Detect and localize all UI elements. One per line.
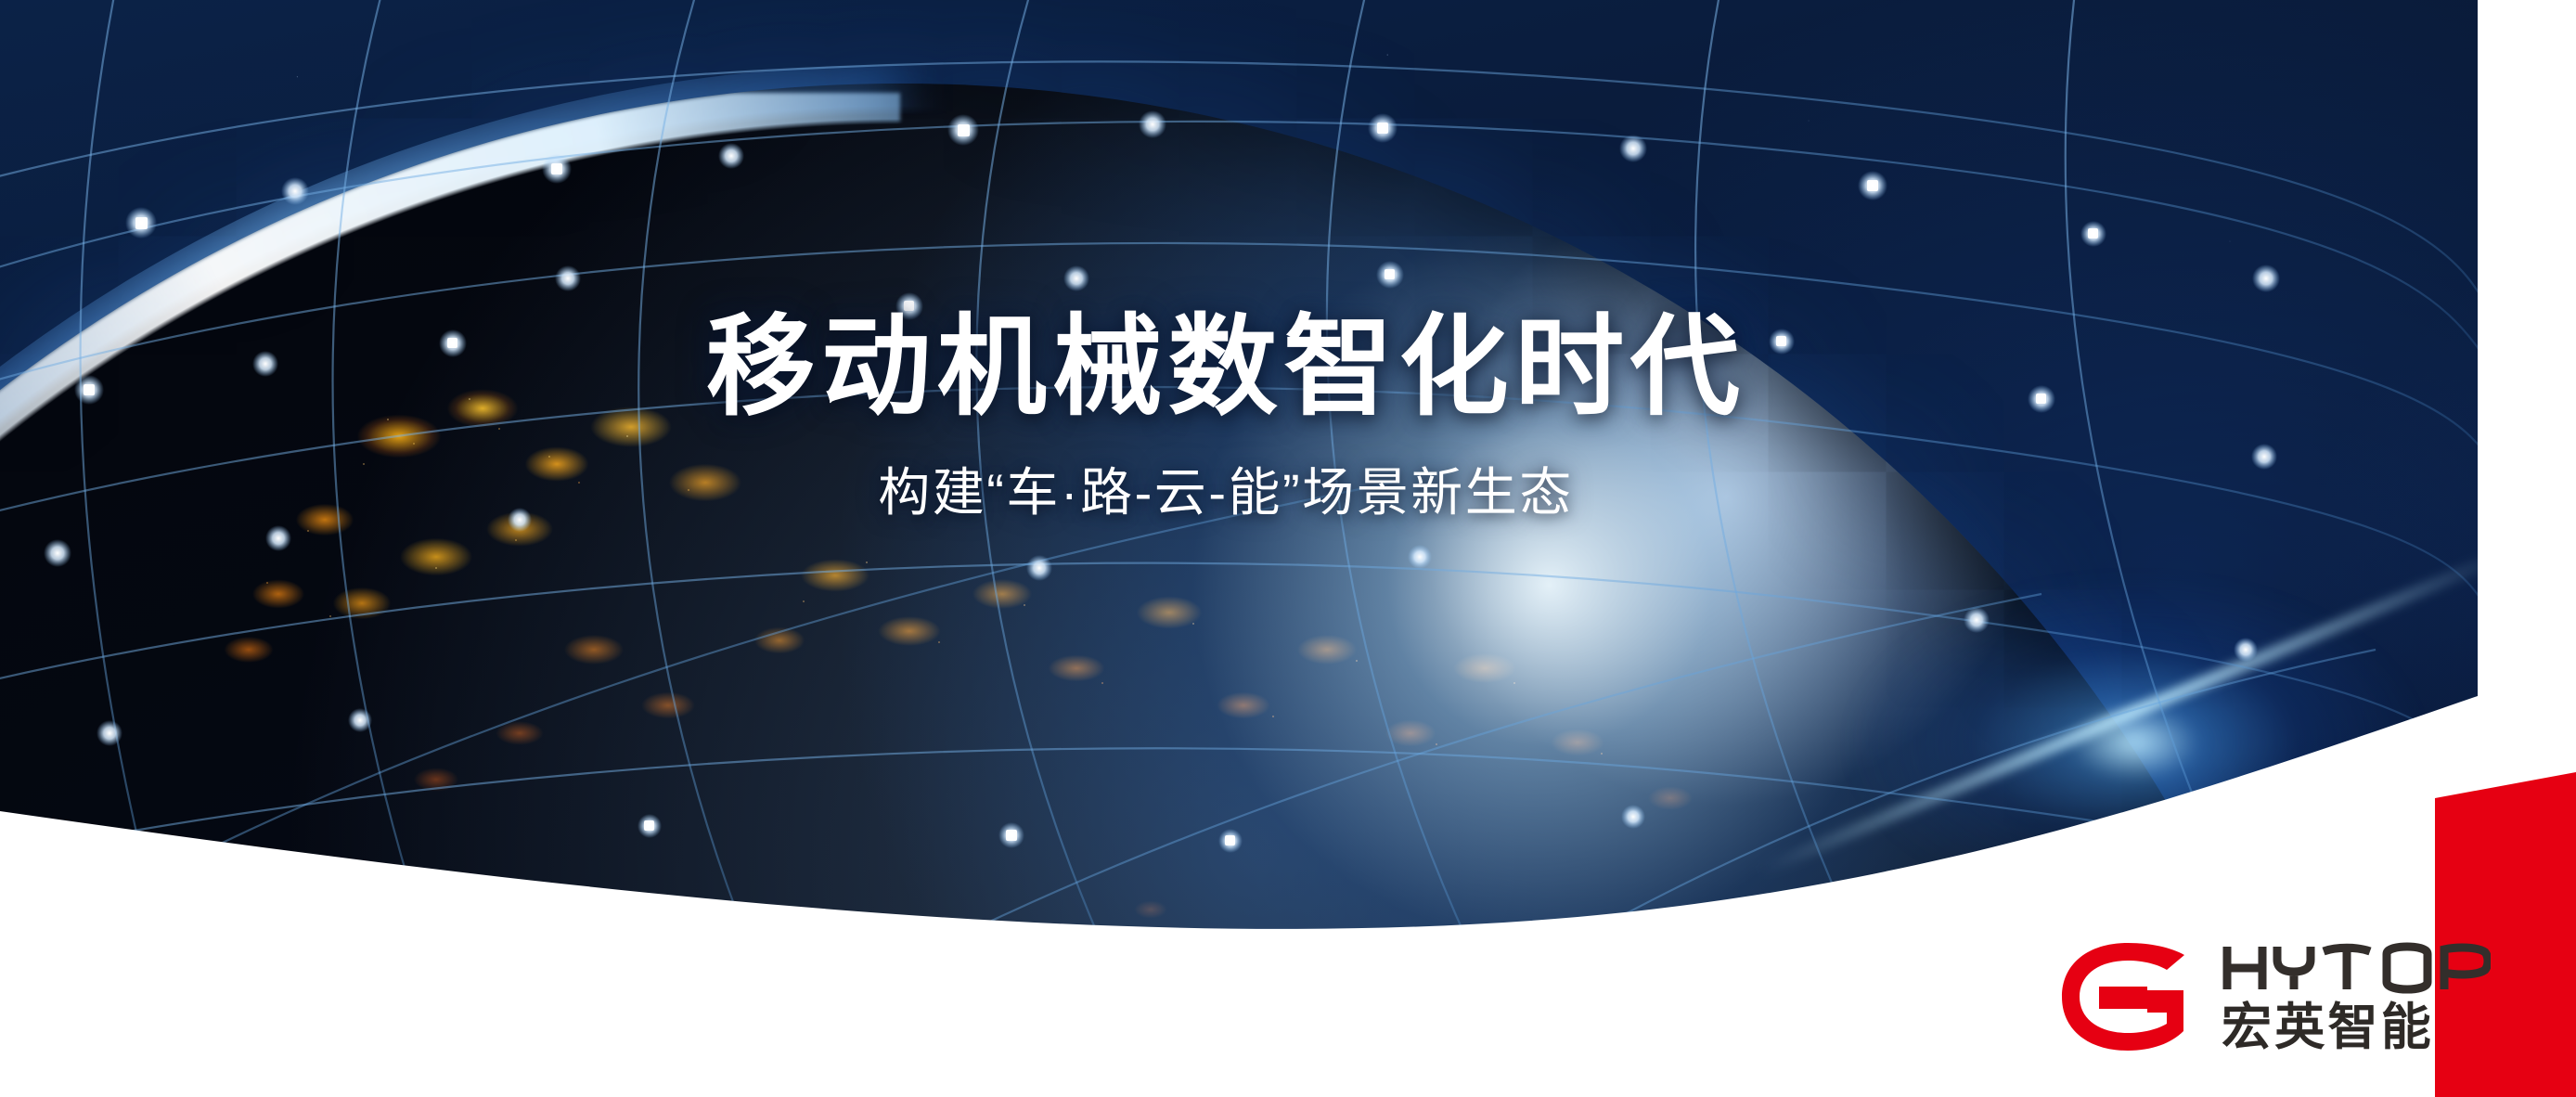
company-logo: 宏英智能 [2058, 939, 2491, 1054]
logo-chinese-name: 宏英智能 [2222, 1002, 2491, 1052]
hytop-wordmark [2222, 941, 2491, 995]
hytop-g-mark-icon [2058, 939, 2197, 1054]
title-block: 移动机械数智化时代 构建“车·路-云-能”场景新生态 [0, 306, 2478, 525]
mesh-nodes [44, 110, 2280, 966]
page-title: 移动机械数智化时代 [0, 306, 2465, 429]
page-subtitle: 构建“车·路-云-能”场景新生态 [0, 460, 2465, 525]
presentation-title-slide: 移动机械数智化时代 构建“车·路-云-能”场景新生态 [0, 0, 2576, 1097]
background-space-photo [0, 0, 2478, 1097]
network-mesh-overlay [0, 0, 2478, 1097]
logo-text-group: 宏英智能 [2222, 941, 2491, 1052]
